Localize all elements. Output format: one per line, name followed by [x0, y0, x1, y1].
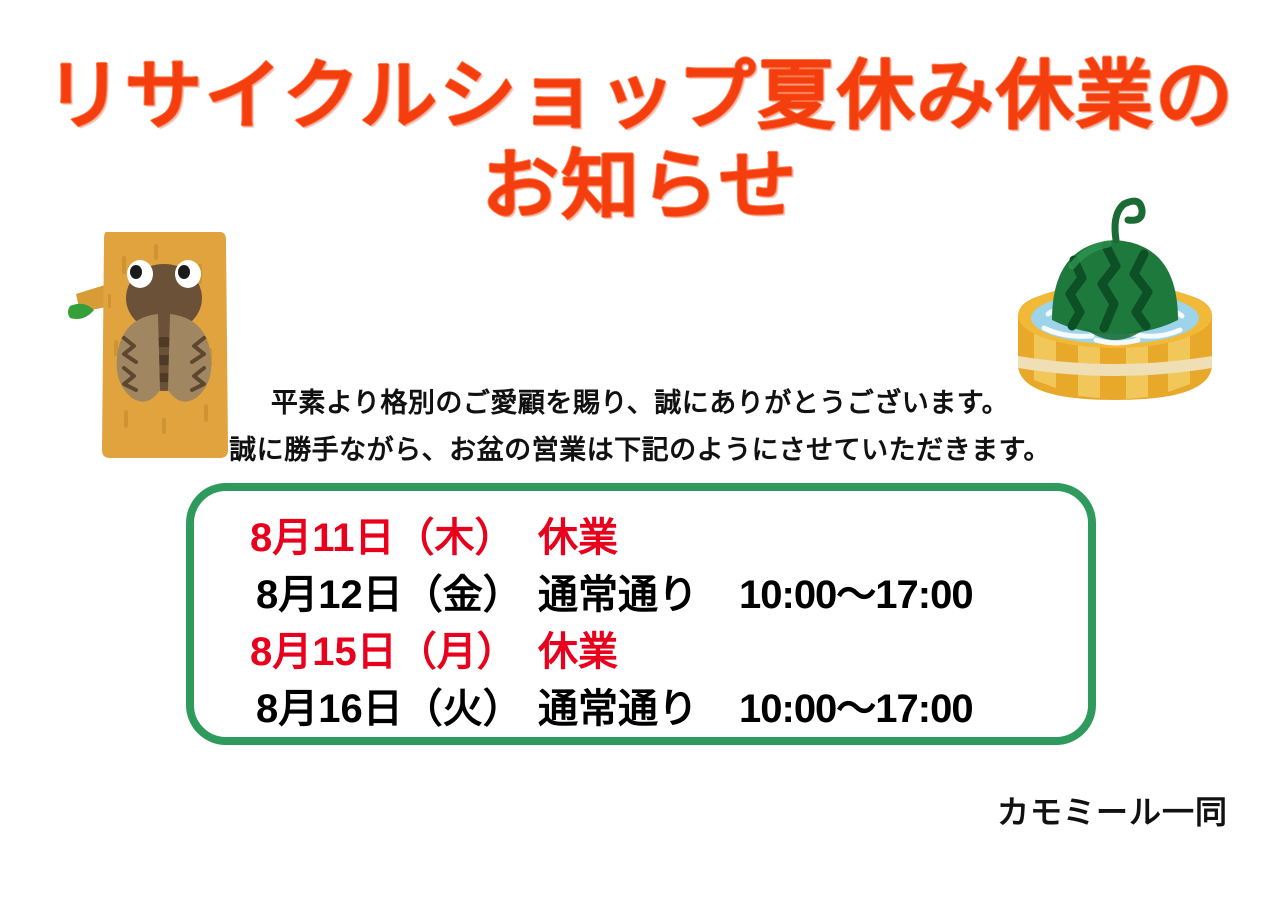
- schedule-status: 休業: [524, 505, 739, 563]
- schedule-date: 8月11日（木）: [194, 505, 524, 563]
- schedule-rows: 8月11日（木） 休業 8月12日（金） 通常通り 10:00〜17:00 8月…: [194, 505, 1088, 733]
- schedule-hours: 10:00〜17:00: [739, 676, 973, 734]
- schedule-status: 通常通り: [524, 562, 739, 620]
- notice-page: リサイクルショップ夏休み休業の お知らせ: [0, 0, 1280, 905]
- schedule-box: 8月11日（木） 休業 8月12日（金） 通常通り 10:00〜17:00 8月…: [186, 483, 1096, 745]
- schedule-row: 8月12日（金） 通常通り 10:00〜17:00: [194, 562, 1088, 619]
- schedule-date: 8月16日（火）: [194, 676, 524, 734]
- body-line-1: 平素より格別のご愛顧を賜り、誠にありがとうございます。: [0, 380, 1280, 427]
- body-paragraph: 平素より格別のご愛顧を賜り、誠にありがとうございます。 誠に勝手ながら、お盆の営…: [0, 380, 1280, 475]
- schedule-hours: 10:00〜17:00: [739, 562, 973, 620]
- schedule-status: 休業: [524, 619, 739, 677]
- schedule-date: 8月15日（月）: [194, 619, 524, 677]
- schedule-row: 8月16日（火） 通常通り 10:00〜17:00: [194, 676, 1088, 733]
- signature: カモミール一同: [997, 787, 1228, 833]
- title-line-1: リサイクルショップ夏休み休業の: [0, 52, 1280, 142]
- schedule-date: 8月12日（金）: [194, 562, 524, 620]
- schedule-row: 8月11日（木） 休業: [194, 505, 1088, 562]
- body-line-2: 誠に勝手ながら、お盆の営業は下記のようにさせていただきます。: [0, 427, 1280, 474]
- schedule-status: 通常通り: [524, 676, 739, 734]
- schedule-row: 8月15日（月） 休業: [194, 619, 1088, 676]
